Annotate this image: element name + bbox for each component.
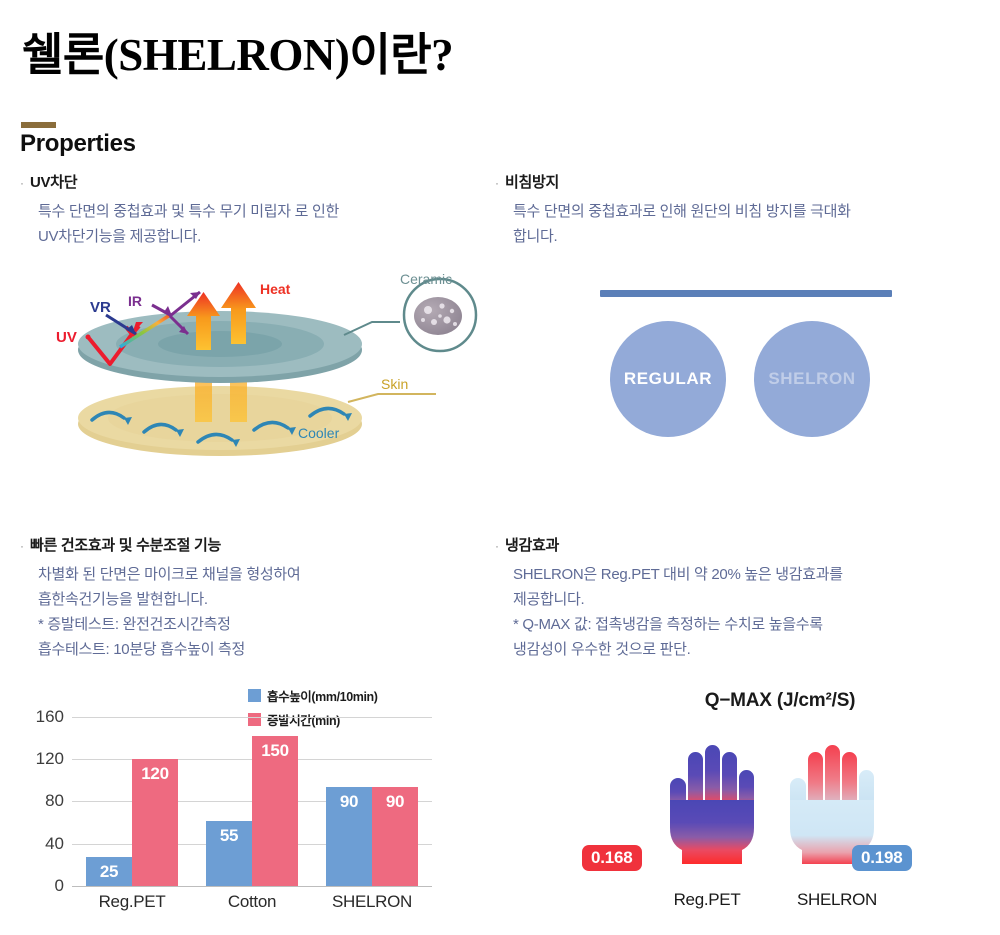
gridline-0 xyxy=(72,886,432,887)
cooler-label: Cooler xyxy=(298,425,340,441)
legend-swatch-blue xyxy=(248,689,261,702)
y-tick-120: 120 xyxy=(20,749,64,769)
feature-drying-body: 차별화 된 단면은 마이크로 채널을 형성하여 흡한속건기능을 발현합니다. *… xyxy=(38,562,480,662)
feature-drying-title: 빠른 건조효과 및 수분조절 기능 xyxy=(30,535,221,557)
bar-regpet-evaporation: 120 xyxy=(132,759,178,886)
bar-value-cotton-absorption: 55 xyxy=(220,826,238,846)
qmax-caption-shelron: SHELRON xyxy=(772,890,902,910)
feature-cooling-block: · 냉감효과 SHELRON은 Reg.PET 대비 약 20% 높은 냉감효과… xyxy=(495,535,995,662)
circle-shelron-label: SHELRON xyxy=(768,369,855,389)
feature-drying-title-row: · 빠른 건조효과 및 수분조절 기능 xyxy=(20,535,480,557)
qmax-badge-shelron: 0.198 xyxy=(852,845,912,871)
absorption-evaporation-bar-chart: 흡수높이(mm/10min) 증발시간(min) 0 40 80 120 160 xyxy=(20,686,450,934)
bullet-icon: · xyxy=(20,172,30,194)
skin-label: Skin xyxy=(381,376,408,392)
feature-seethrough-block: · 비침방지 특수 단면의 중첩효과로 인해 원단의 비침 방지를 극대화 합니… xyxy=(495,172,995,249)
y-tick-80: 80 xyxy=(20,791,64,811)
skin-disc xyxy=(78,386,362,456)
circle-regular-label: REGULAR xyxy=(624,369,712,389)
bar-cotton-evaporation: 150 xyxy=(252,736,298,886)
bar-value-shelron-absorption: 90 xyxy=(340,792,358,812)
hand-icon xyxy=(670,745,754,864)
feature-cooling-body: SHELRON은 Reg.PET 대비 약 20% 높은 냉감효과를 제공합니다… xyxy=(513,562,995,662)
qmax-title: Q−MAX (J/cm²/S) xyxy=(580,690,980,712)
x-tick-shelron: SHELRON xyxy=(324,892,420,912)
page-title: 쉘론(SHELRON)이란? xyxy=(22,18,453,83)
slide-page: 쉘론(SHELRON)이란? Properties · UV차단 특수 단면의 … xyxy=(0,0,1000,935)
y-axis: 0 40 80 120 160 xyxy=(20,706,64,886)
x-tick-regpet: Reg.PET xyxy=(84,892,180,912)
feature-seethrough-title: 비침방지 xyxy=(505,172,559,194)
legend-label-absorption: 흡수높이(mm/10min) xyxy=(267,686,378,705)
hand-shelron xyxy=(772,730,902,860)
see-through-illustration: REGULAR SHELRON xyxy=(592,285,902,465)
circle-regular: REGULAR xyxy=(610,321,726,437)
feature-uv-body: 특수 단면의 중첩효과 및 특수 무기 미립자 로 인한 UV차단기능을 제공합… xyxy=(38,199,470,249)
feature-drying-block: · 빠른 건조효과 및 수분조절 기능 차별화 된 단면은 마이크로 채널을 형… xyxy=(20,535,480,662)
bar-cotton-absorption: 55 xyxy=(206,821,252,886)
bar-value-regpet-absorption: 25 xyxy=(100,862,118,882)
bar-group-shelron: 90 90 xyxy=(324,706,420,886)
y-tick-160: 160 xyxy=(20,707,64,727)
heat-label: Heat xyxy=(260,281,291,297)
section-heading: Properties xyxy=(20,130,136,158)
bar-value-regpet-evaporation: 120 xyxy=(141,764,168,784)
bar-value-cotton-evaporation: 150 xyxy=(261,741,288,761)
bar-group-regpet: 25 120 xyxy=(84,706,180,886)
bar-shelron-absorption: 90 xyxy=(326,787,372,887)
uv-label: UV xyxy=(56,329,77,346)
bar-regpet-absorption: 25 xyxy=(86,857,132,886)
qmax-comparison: Q−MAX (J/cm²/S) xyxy=(580,690,980,930)
section-accent-rule xyxy=(21,122,56,128)
chart-plot-area: 0 40 80 120 160 25 120 xyxy=(20,706,450,916)
ceramic-callout: Ceramic xyxy=(344,272,476,351)
y-tick-0: 0 xyxy=(20,876,64,896)
hand-regpet xyxy=(642,730,772,860)
feature-uv-title-row: · UV차단 xyxy=(20,172,470,194)
vr-label: VR xyxy=(90,299,111,316)
bullet-icon: · xyxy=(495,172,505,194)
bar-shelron-evaporation: 90 xyxy=(372,787,418,887)
feature-seethrough-body: 특수 단면의 중첩효과로 인해 원단의 비침 방지를 극대화 합니다. xyxy=(513,199,995,249)
bullet-icon: · xyxy=(495,535,505,557)
ir-label: IR xyxy=(128,293,142,309)
y-tick-40: 40 xyxy=(20,834,64,854)
feature-cooling-title-row: · 냉감효과 xyxy=(495,535,995,557)
comparison-divider-bar xyxy=(600,290,892,297)
uv-blocking-diagram: Heat UV VR xyxy=(48,272,478,472)
circle-shelron: SHELRON xyxy=(754,321,870,437)
ceramic-label: Ceramic xyxy=(400,272,452,287)
feature-seethrough-title-row: · 비침방지 xyxy=(495,172,995,194)
bar-value-shelron-evaporation: 90 xyxy=(386,792,404,812)
skin-callout: Skin xyxy=(348,376,436,402)
x-axis: Reg.PET Cotton SHELRON xyxy=(72,892,432,912)
chart-bars: 25 120 55 150 90 xyxy=(72,706,432,886)
feature-uv-block: · UV차단 특수 단면의 중첩효과 및 특수 무기 미립자 로 인한 UV차단… xyxy=(20,172,470,249)
qmax-badge-regpet: 0.168 xyxy=(582,845,642,871)
bar-group-cotton: 55 150 xyxy=(204,706,300,886)
legend-item-absorption: 흡수높이(mm/10min) xyxy=(248,686,453,705)
feature-uv-title: UV차단 xyxy=(30,172,77,194)
bullet-icon: · xyxy=(20,535,30,557)
feature-cooling-title: 냉감효과 xyxy=(505,535,559,557)
qmax-caption-regpet: Reg.PET xyxy=(642,890,772,910)
x-tick-cotton: Cotton xyxy=(204,892,300,912)
